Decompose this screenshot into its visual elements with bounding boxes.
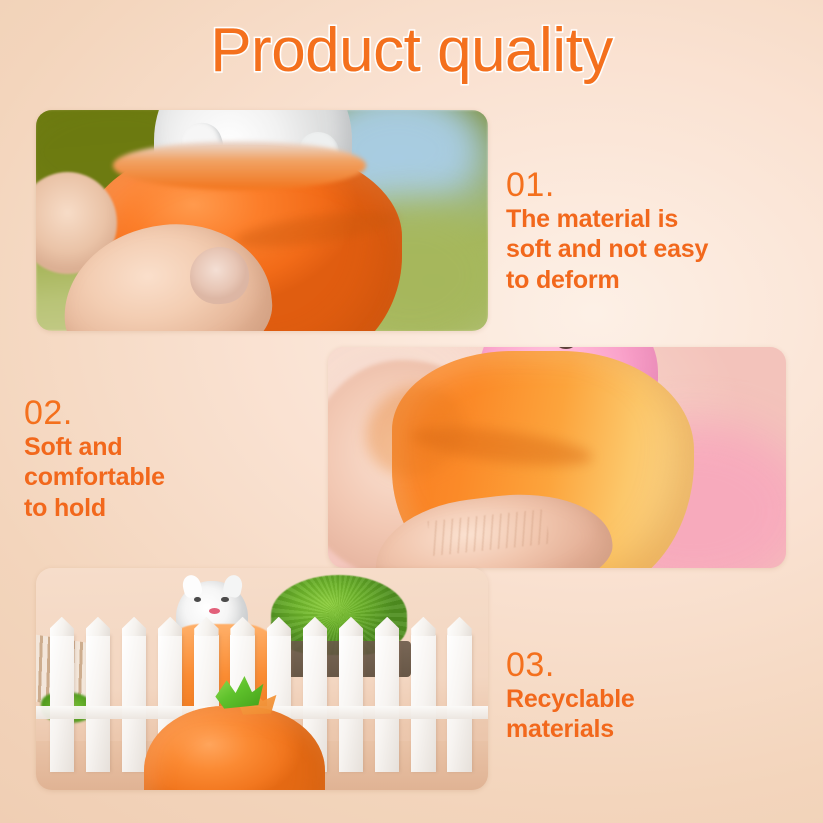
infographic-page: Product quality 01. The material is soft…: [0, 0, 823, 823]
rabbit-nose: [209, 608, 220, 614]
fence-picket: [411, 635, 435, 773]
feature-photo-2: [328, 347, 786, 568]
page-title-container: Product quality: [0, 18, 823, 83]
feature-2-description: Soft and comfortable to hold: [24, 432, 294, 524]
feature-2-number: 02.: [24, 396, 294, 432]
feature-photo-3: [36, 568, 488, 790]
carrot-opening-rim: [113, 141, 366, 190]
fence-picket: [86, 635, 110, 773]
fence-picket: [375, 635, 399, 773]
feature-3-description: Recyclable materials: [506, 684, 786, 745]
feature-2-text: 02. Soft and comfortable to hold: [24, 396, 294, 523]
fence-picket: [50, 635, 74, 773]
fence-picket: [447, 635, 471, 773]
fence-picket: [339, 635, 363, 773]
rabbit-eye-right: [221, 597, 228, 602]
feature-1-number: 01.: [506, 168, 811, 204]
feature-3-number: 03.: [506, 648, 786, 684]
feature-1-text: 01. The material is soft and not easy to…: [506, 168, 811, 295]
feature-3-text: 03. Recyclable materials: [506, 648, 786, 745]
feature-photo-1: [36, 110, 488, 331]
feature-1-description: The material is soft and not easy to def…: [506, 204, 811, 296]
fence-picket: [122, 635, 146, 773]
page-title: Product quality: [210, 18, 613, 83]
